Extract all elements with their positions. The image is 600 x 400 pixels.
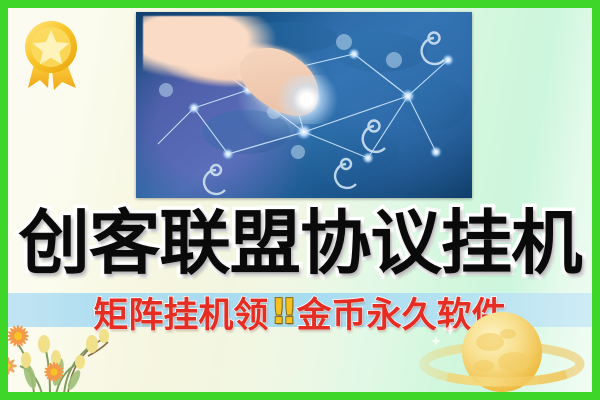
poster-canvas: 创客联盟协议挂机 矩阵挂机领 ‼ 金币永久软件 bbox=[8, 8, 592, 392]
double-exclamation-icon: ‼ bbox=[270, 292, 294, 332]
touch-glow bbox=[270, 75, 344, 123]
poster-root: 创客联盟协议挂机 矩阵挂机领 ‼ 金币永久软件 bbox=[0, 0, 600, 400]
orange-flowers-decoration bbox=[8, 314, 184, 392]
golden-ringed-planet-decoration bbox=[410, 302, 590, 392]
gold-award-medal-icon bbox=[18, 16, 84, 92]
page-title: 创客联盟协议挂机 bbox=[8, 196, 592, 278]
network-technology-photo bbox=[136, 12, 472, 198]
